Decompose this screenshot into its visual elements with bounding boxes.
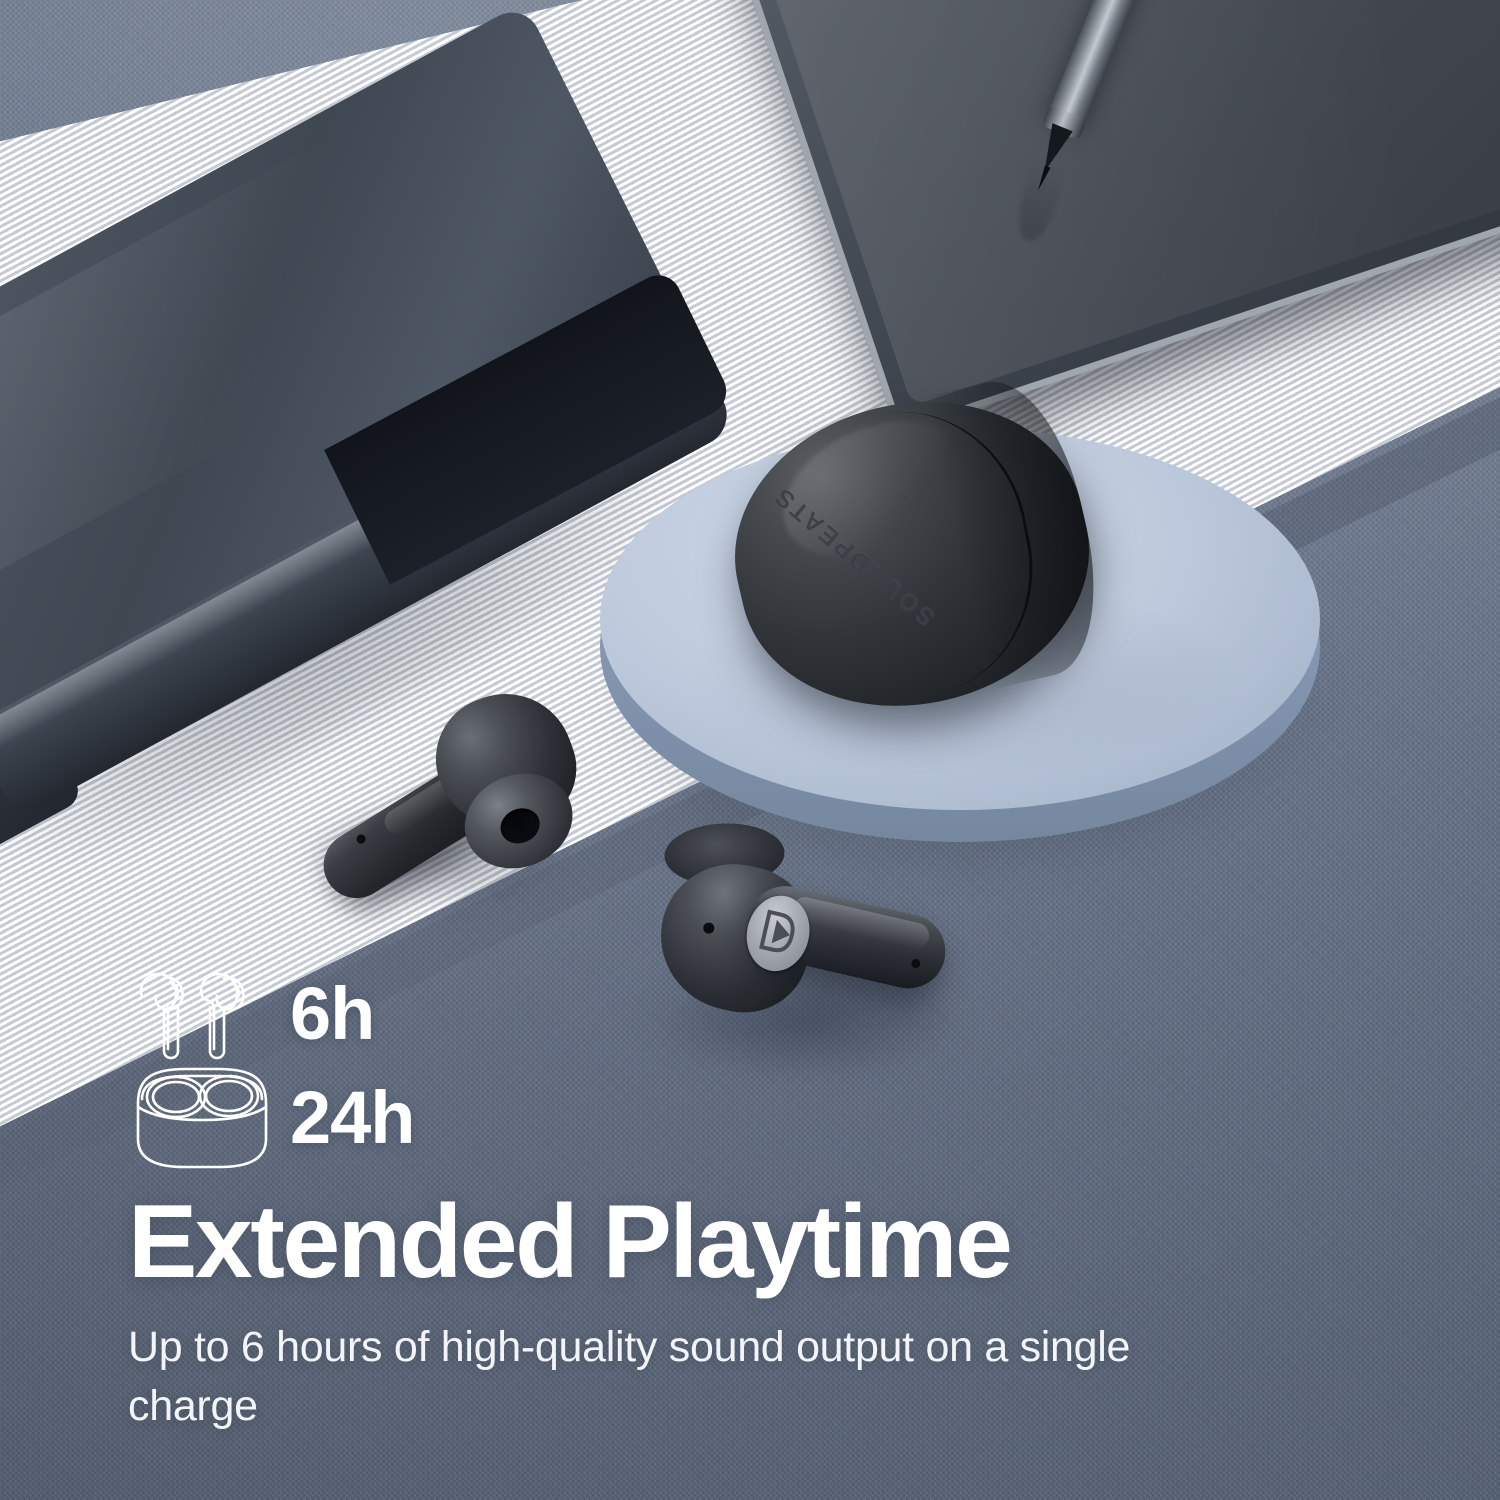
page-title: Extended Playtime [128, 1189, 1010, 1295]
charging-case-icon [128, 1068, 276, 1168]
right-earbud [644, 845, 957, 1055]
spec-row-earbuds: 6h [128, 962, 548, 1066]
stylus-cone [1034, 123, 1072, 176]
spec-value-earbuds: 6h [290, 977, 374, 1051]
earbuds-icon [128, 964, 276, 1064]
page-subtitle: Up to 6 hours of high-quality sound outp… [128, 1318, 1198, 1437]
spec-value-case: 24h [290, 1081, 415, 1155]
left-earbud [290, 675, 609, 905]
spec-list: 6h [128, 962, 548, 1170]
product-marketing-image: SOUNDPEATS [0, 0, 1500, 1500]
spec-row-case: 24h [128, 1066, 548, 1170]
